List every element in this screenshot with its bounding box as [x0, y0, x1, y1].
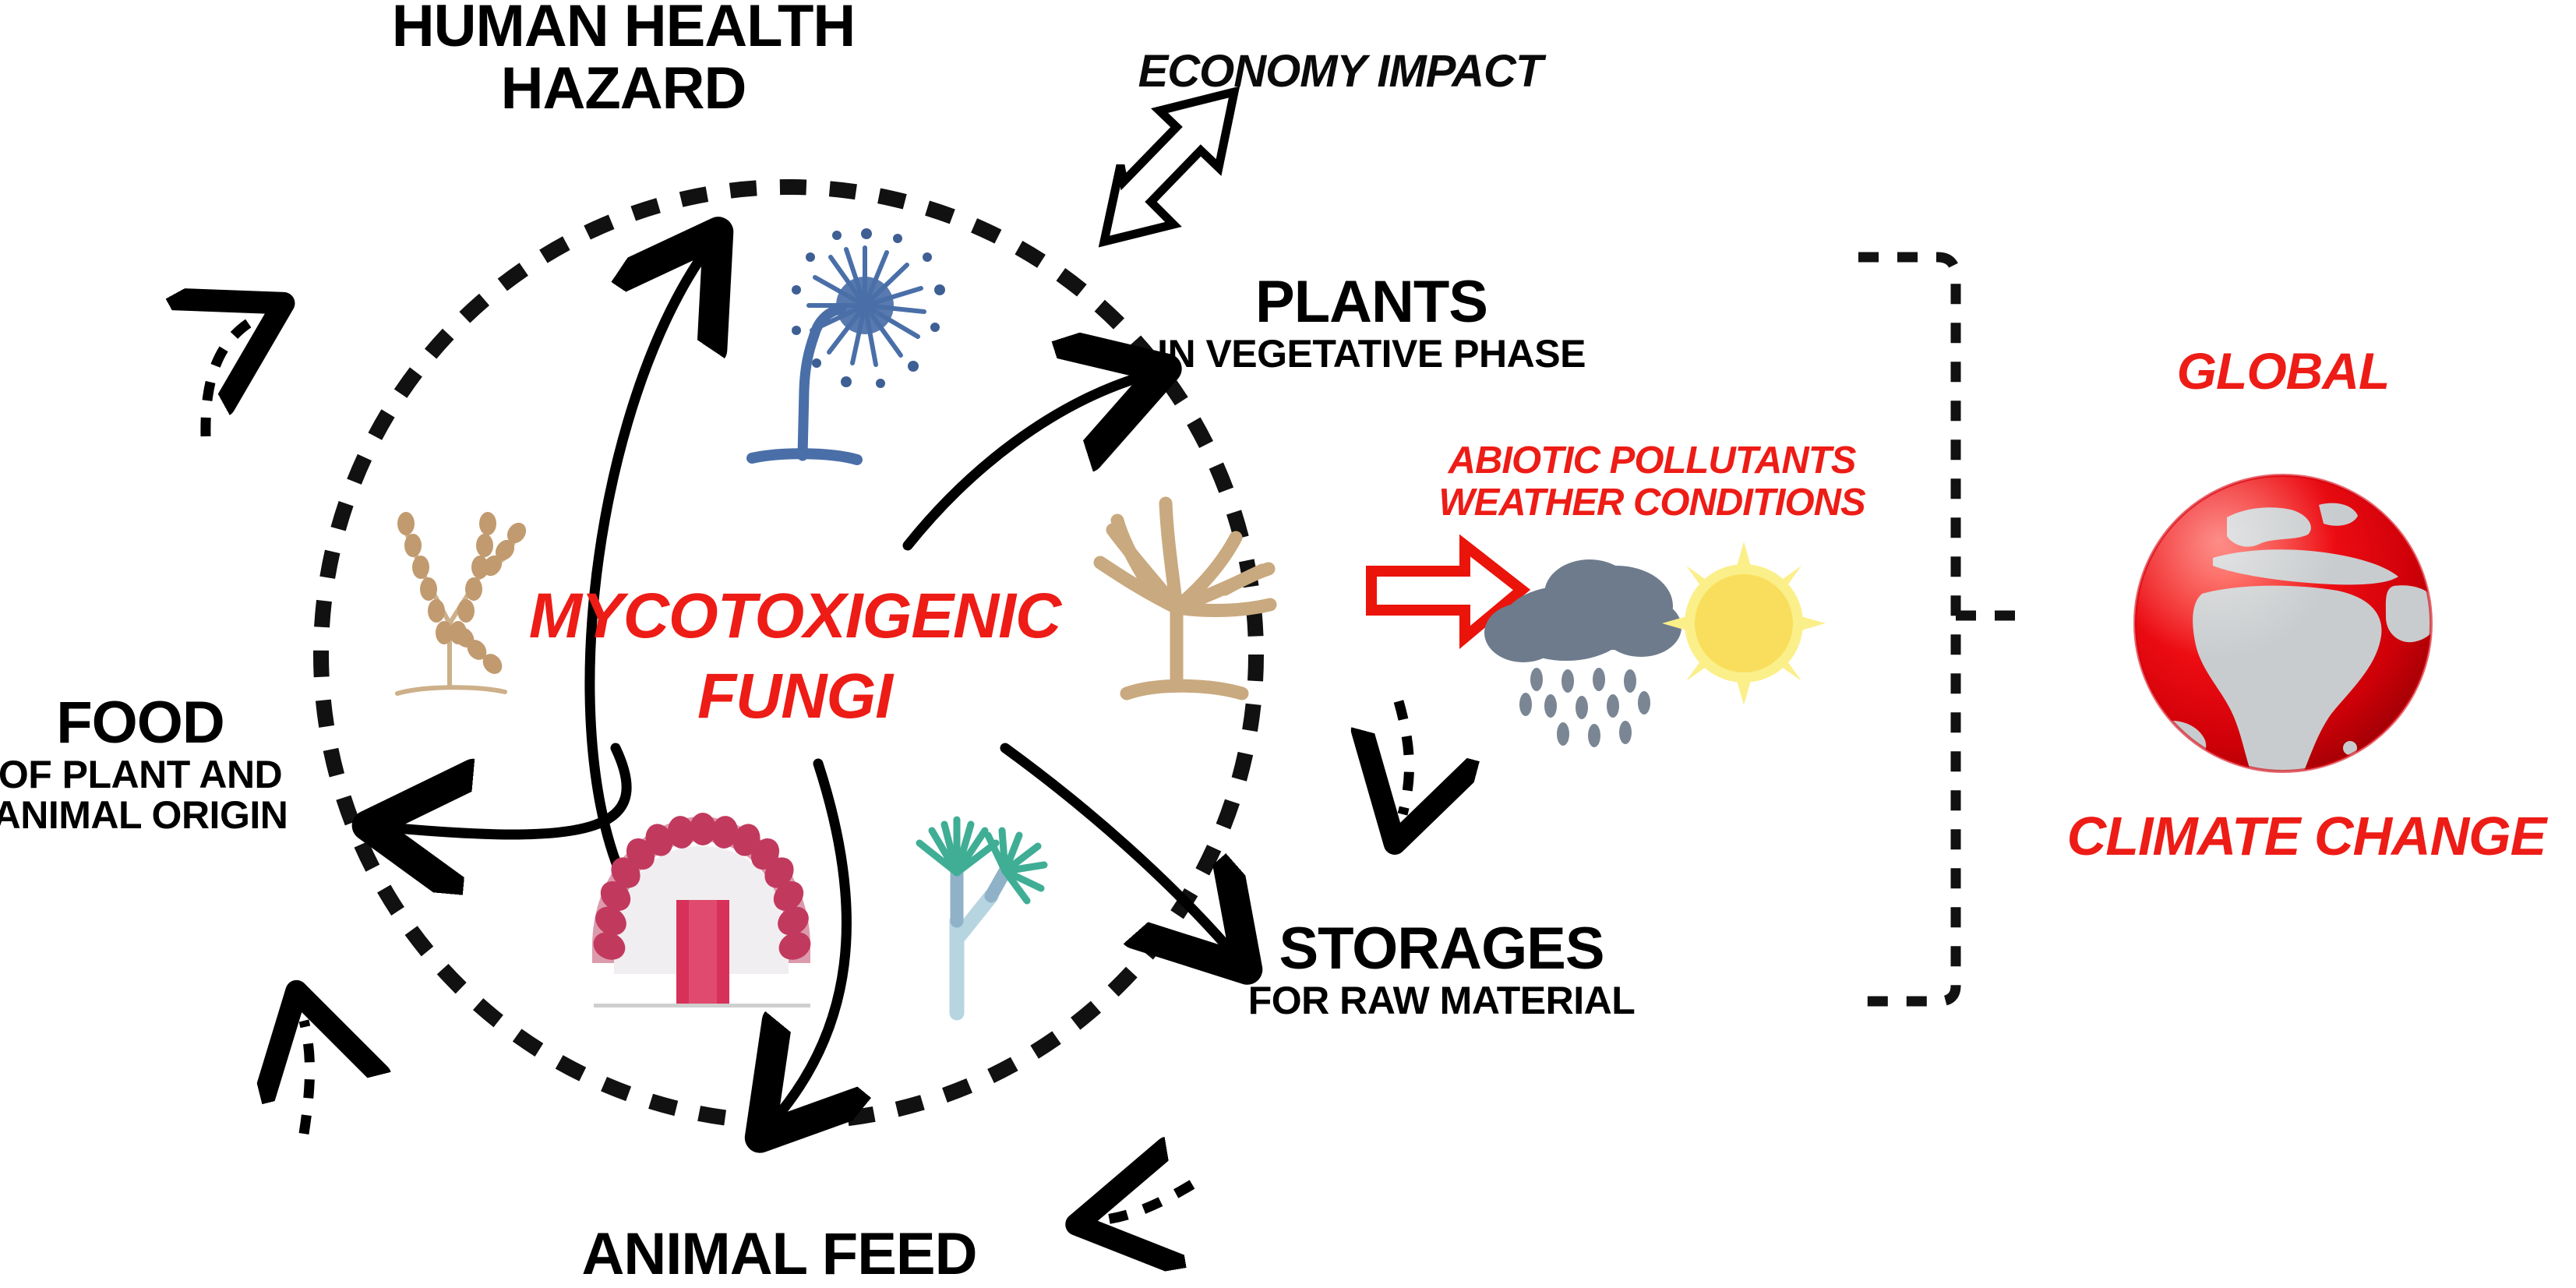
human-health-title2: HAZARD: [327, 58, 919, 120]
node-economy-impact: ECONOMY IMPACT: [1122, 45, 1558, 97]
climate-change-label: CLIMATE CHANGE: [2041, 806, 2571, 866]
food-subtitle-2: ANIMAL ORIGIN: [0, 795, 288, 836]
node-storages: STORAGES FOR RAW MATERIAL: [1177, 918, 1706, 1021]
climate-bracket: [1858, 257, 2034, 1001]
stressor-line1: ABIOTIC POLLUTANTS: [1340, 440, 1964, 482]
storages-title: STORAGES: [1177, 918, 1706, 980]
node-human-health: HUMAN HEALTH HAZARD: [327, 0, 919, 120]
node-plants: PLANTS IN VEGETATIVE PHASE: [1130, 271, 1613, 374]
food-subtitle-1: OF PLANT AND: [0, 754, 288, 796]
economy-impact-arrow: [1104, 92, 1234, 242]
center-line1: MYCOTOXIGENIC: [491, 577, 1099, 657]
food-title: FOOD: [0, 692, 288, 754]
dashed-arrow-to-food: [304, 1021, 310, 1134]
globe-icon: [2135, 475, 2462, 800]
center-line2: FUNGI: [491, 657, 1099, 737]
dashed-arrow-to-animal-feed: [1106, 1184, 1192, 1219]
aspergillus-conidiophore-icon: [752, 228, 945, 460]
plants-title: PLANTS: [1130, 271, 1613, 333]
diagram-vector-layer: [0, 0, 2576, 1288]
stressor-labels: ABIOTIC POLLUTANTS WEATHER CONDITIONS: [1340, 440, 1964, 524]
storages-subtitle: FOR RAW MATERIAL: [1177, 980, 1706, 1022]
sun-icon: [1662, 542, 1826, 705]
plants-subtitle: IN VEGETATIVE PHASE: [1130, 333, 1613, 375]
diagram-canvas: HUMAN HEALTH HAZARD ECONOMY IMPACT PLANT…: [0, 0, 2576, 1288]
center-label: MYCOTOXIGENIC FUNGI: [491, 577, 1099, 736]
climate-global-label: GLOBAL: [2096, 343, 2470, 400]
animal-feed-title: ANIMAL FEED: [483, 1223, 1075, 1286]
dashed-arrow-to-storages: [1399, 701, 1409, 814]
stressor-line2: WEATHER CONDITIONS: [1340, 482, 1964, 524]
node-food: FOOD OF PLANT AND ANIMAL ORIGIN: [0, 692, 288, 836]
human-health-title: HUMAN HEALTH: [327, 0, 919, 58]
fruiting-body-section-icon: [589, 813, 815, 1007]
penicillium-brush-icon: [919, 820, 1044, 1013]
dashed-arrow-to-human-health: [206, 318, 257, 436]
node-animal-feed: ANIMAL FEED: [483, 1223, 1075, 1286]
arrow-human-health-to-plants: [908, 378, 1138, 545]
